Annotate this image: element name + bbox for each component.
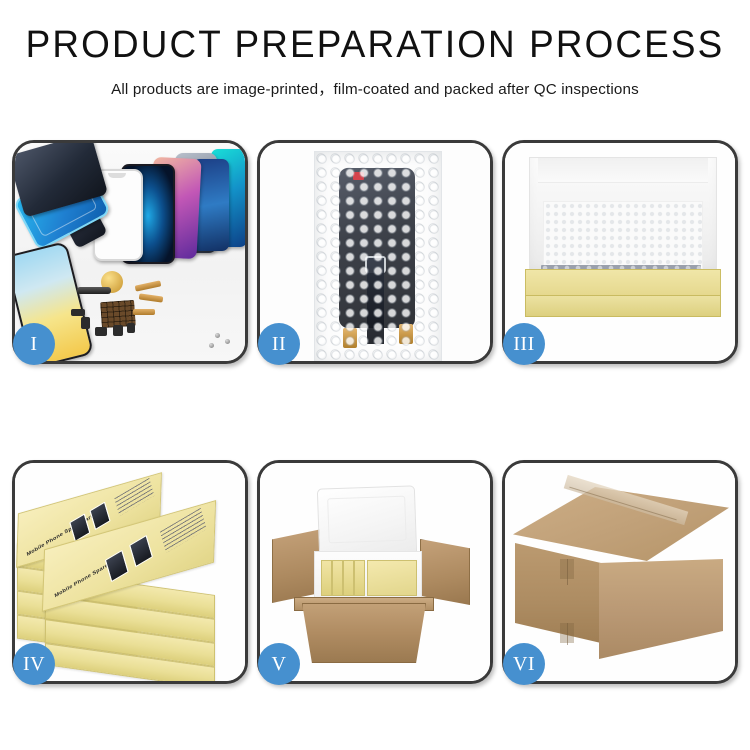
bubble-wrap-bag <box>314 151 442 361</box>
process-step-1[interactable]: I <box>12 140 248 364</box>
carton-body <box>302 603 426 663</box>
carton-right-face <box>599 559 723 659</box>
page-header: PRODUCT PREPARATION PROCESS All products… <box>0 0 750 99</box>
earpiece-speaker <box>77 287 111 294</box>
step-1-image <box>15 143 245 361</box>
carton-flap-right <box>420 539 470 605</box>
gold-box-edge-3 <box>343 560 354 596</box>
small-part-1 <box>81 317 90 329</box>
step-badge-2: II <box>258 323 300 365</box>
step-badge-6: VI <box>503 643 545 685</box>
step-badge-4: IV <box>13 643 55 685</box>
box-thumb-front-1 <box>105 550 129 582</box>
sealed-carton-scene <box>505 463 735 681</box>
connector-right <box>399 324 413 344</box>
flex-cable-1 <box>135 280 162 291</box>
screw-2 <box>225 339 230 344</box>
small-part-3 <box>113 325 123 336</box>
process-step-2[interactable]: II <box>257 140 493 364</box>
process-step-grid: I II <box>12 140 738 684</box>
process-step-4[interactable]: Mobile Phone Spare Parts Mobile Phone Sp… <box>12 460 248 684</box>
qc-red-label <box>353 172 364 180</box>
process-step-6[interactable]: VI <box>502 460 738 684</box>
step-4-image: Mobile Phone Spare Parts Mobile Phone Sp… <box>15 463 245 681</box>
gold-box-edge-2 <box>332 560 343 596</box>
carton-packing-scene <box>260 463 490 681</box>
gold-tray-front-lip <box>525 295 721 317</box>
carton-left-face <box>515 543 601 643</box>
carton-handle-upper <box>560 559 574 579</box>
flex-cable-3 <box>133 309 155 315</box>
step-6-image <box>505 463 735 681</box>
connector-left <box>343 328 357 348</box>
gold-box-flat-stack <box>367 560 417 596</box>
stacked-boxes-scene: Mobile Phone Spare Parts Mobile Phone Sp… <box>15 463 245 681</box>
process-step-3[interactable]: III <box>502 140 738 364</box>
step-5-image <box>260 463 490 681</box>
screw-3 <box>209 343 214 348</box>
screw-1 <box>215 333 220 338</box>
small-part-2 <box>95 327 107 336</box>
gold-box-edge-1 <box>321 560 332 596</box>
page-subtitle: All products are image-printed，film-coat… <box>0 77 750 99</box>
small-part-5 <box>71 309 85 316</box>
white-foam-sheet <box>543 201 703 273</box>
flex-cable-tail <box>367 258 384 344</box>
small-part-4 <box>127 323 135 333</box>
box-thumb-rear-2 <box>89 502 110 531</box>
carton-handle-lower <box>560 623 574 643</box>
foam-box-lid <box>317 485 417 558</box>
step-2-image <box>260 143 490 361</box>
step-3-image <box>505 143 735 361</box>
flex-cable-2 <box>139 293 164 302</box>
step-badge-3: III <box>503 323 545 365</box>
process-step-5[interactable]: V <box>257 460 493 684</box>
box-specs-front <box>160 508 207 553</box>
step-badge-1: I <box>13 323 55 365</box>
gold-box-edge-4 <box>354 560 365 596</box>
page-title: PRODUCT PREPARATION PROCESS <box>11 26 739 66</box>
phone-parts-scene <box>15 143 245 361</box>
box-thumb-front-2 <box>129 535 153 567</box>
foam-tray-scene <box>505 143 735 361</box>
step-badge-5: V <box>258 643 300 685</box>
bubble-wrap-scene <box>260 143 490 361</box>
box-specs-rear <box>114 478 154 516</box>
